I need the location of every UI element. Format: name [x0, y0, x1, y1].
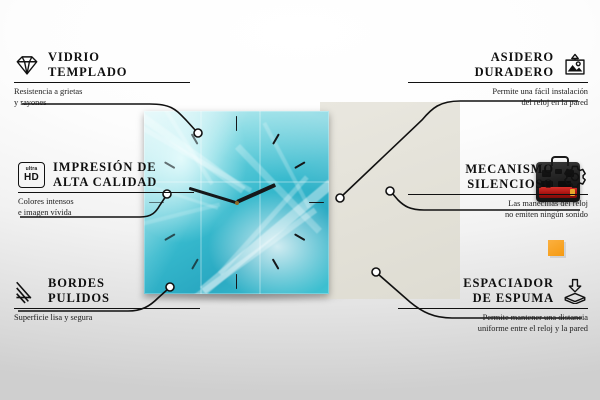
gear-icon — [562, 164, 588, 190]
feature-divider — [14, 308, 200, 309]
ultra-hd-icon-large-text: HD — [24, 173, 39, 183]
feature-title: DURADERO — [475, 65, 554, 80]
feature-desc: e imagen vívida — [18, 208, 194, 218]
ultra-hd-icon-small-text: ultra — [26, 167, 38, 172]
diamond-icon — [14, 52, 40, 78]
feature-desc: y rayones — [14, 98, 190, 108]
feature-bordes-pulidos: BORDES PULIDOS Superficie lisa y segura — [14, 276, 200, 324]
ultra-hd-icon: ultra HD — [18, 162, 45, 188]
feature-desc: del reloj en la pared — [408, 98, 588, 108]
feature-title: DE ESPUMA — [463, 291, 554, 306]
feature-title: ESPACIADOR — [463, 276, 554, 291]
feature-divider — [408, 82, 588, 83]
picture-hanger-icon — [562, 52, 588, 78]
feature-desc: Colores intensos — [18, 197, 194, 207]
feature-title: MECANISMO — [465, 162, 554, 177]
feature-desc: uniforme entre el reloj y la pared — [398, 324, 588, 334]
feature-divider — [18, 192, 194, 193]
feature-divider — [408, 194, 588, 195]
feature-espaciador-de-espuma: ESPACIADOR DE ESPUMA Permite mantener un… — [398, 276, 588, 334]
feature-desc: Permite mantener una distancia — [398, 313, 588, 323]
feature-impresion-alta-calidad: ultra HD IMPRESIÓN DE ALTA CALIDAD Color… — [18, 160, 194, 218]
feature-title: ASIDERO — [475, 50, 554, 65]
feature-title: SILENCIOSO — [465, 177, 554, 192]
glass-reflection-line — [200, 111, 202, 294]
polished-edges-icon — [14, 278, 40, 304]
feature-desc: Resistencia a grietas — [14, 87, 190, 97]
feature-title: BORDES — [48, 276, 110, 291]
feature-desc: Superficie lisa y segura — [14, 313, 200, 323]
feature-divider — [398, 308, 588, 309]
feature-title: IMPRESIÓN DE — [53, 160, 157, 175]
clock-center-pin — [235, 201, 239, 205]
feature-divider — [14, 82, 190, 83]
feature-title: PULIDOS — [48, 291, 110, 306]
feature-desc: Permite una fácil instalación — [408, 87, 588, 97]
glass-reflection-line — [259, 111, 261, 294]
feature-asidero-duradero: ASIDERO DURADERO Permite una fácil insta… — [408, 50, 588, 108]
feature-title: ALTA CALIDAD — [53, 175, 157, 190]
feature-desc: Las manecillas del reloj — [408, 199, 588, 209]
foam-spacer-sample — [548, 240, 564, 256]
feature-title: TEMPLADO — [48, 65, 127, 80]
feature-title: VIDRIO — [48, 50, 127, 65]
feature-desc: no emiten ningún sonido — [408, 210, 588, 220]
feature-mecanismo-silencioso: MECANISMO SILENCIOSO Las manecillas del … — [408, 162, 588, 220]
foam-spacer-icon — [562, 278, 588, 304]
feature-vidrio-templado: VIDRIO TEMPLADO Resistencia a grietas y … — [14, 50, 190, 108]
infographic-canvas: VIDRIO TEMPLADO Resistencia a grietas y … — [0, 0, 600, 400]
